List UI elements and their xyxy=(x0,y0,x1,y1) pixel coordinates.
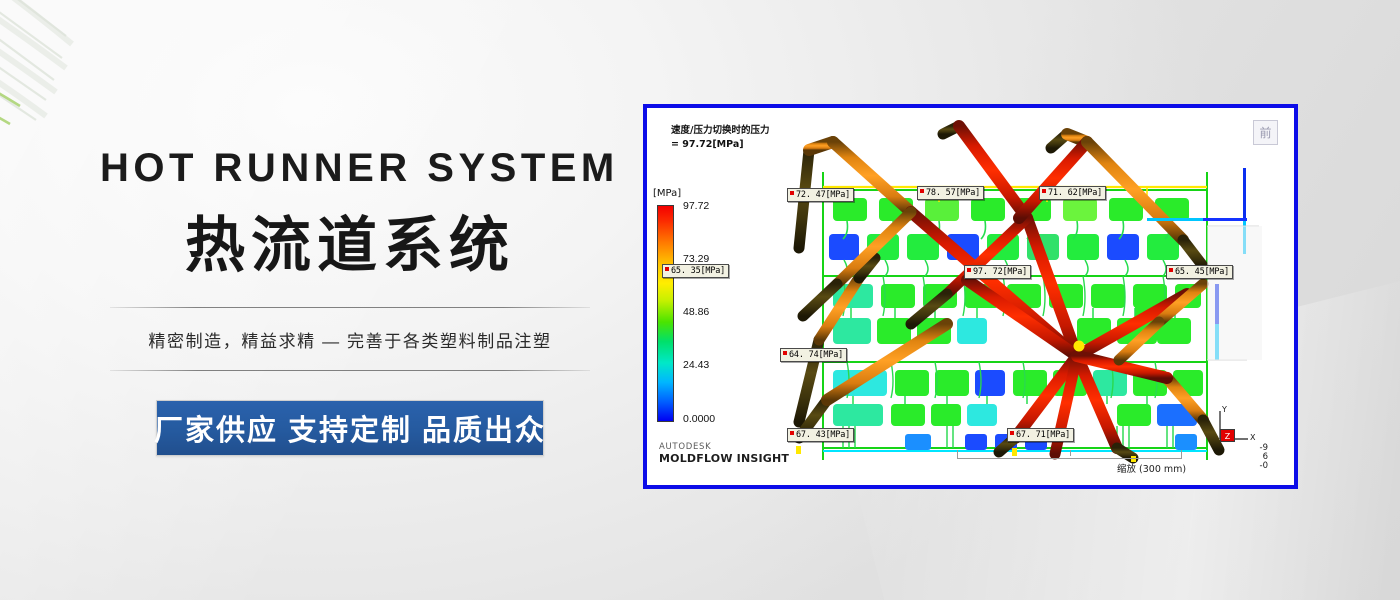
axis-triad: Y X Z -9 6 -0 xyxy=(1214,405,1268,463)
pressure-callout: 78. 57[MPa] xyxy=(917,186,984,200)
moldflow-simulation-image: 速度/压力切换时的压力 = 97.72[MPa] [MPa] 97.72 73.… xyxy=(643,104,1298,489)
colorbar-tick-4: 0.0000 xyxy=(683,413,715,425)
autodesk-watermark: AUTODESK MOLDFLOW INSIGHT xyxy=(659,442,789,465)
pressure-callout: 65. 45[MPa] xyxy=(1166,265,1233,279)
cta-button-label: 厂家供应 支持定制 品质出众 xyxy=(154,407,546,449)
divider-bottom xyxy=(110,370,590,371)
triad-label-x: X xyxy=(1250,433,1255,442)
colorbar-tick-2: 48.86 xyxy=(683,306,709,318)
scale-bar-label: 缩放 (300 mm) xyxy=(1117,461,1186,475)
simulation-canvas: 速度/压力切换时的压力 = 97.72[MPa] [MPa] 97.72 73.… xyxy=(647,108,1294,485)
promo-banner: HOT RUNNER SYSTEM 热流道系统 精密制造，精益求精 — 完善于各… xyxy=(0,0,1400,600)
autodesk-brand: AUTODESK xyxy=(659,442,789,452)
page-title-chinese: 热流道系统 xyxy=(100,214,600,277)
pressure-callout: 65. 35[MPa] xyxy=(662,264,729,278)
banner-subtitle: 精密制造，精益求精 — 完善于各类塑料制品注塑 xyxy=(100,308,600,370)
pressure-callout: 67. 71[MPa] xyxy=(1007,428,1074,442)
triad-value-2: -0 xyxy=(1260,461,1268,471)
colorbar-tick-0: 97.72 xyxy=(683,200,709,212)
banner-text-column: HOT RUNNER SYSTEM 热流道系统 精密制造，精益求精 — 完善于各… xyxy=(100,148,600,456)
colorbar-unit-label: [MPa] xyxy=(653,188,681,199)
pressure-callout: 64. 74[MPa] xyxy=(780,348,847,362)
moldflow-product-name: MOLDFLOW INSIGHT xyxy=(659,452,789,465)
pressure-callout: 72. 47[MPa] xyxy=(787,188,854,202)
pressure-callout: 67. 43[MPa] xyxy=(787,428,854,442)
front-view-badge[interactable]: 前 xyxy=(1253,120,1278,145)
plot-title: 速度/压力切换时的压力 = 97.72[MPa] xyxy=(671,124,769,153)
colorbar-tick-3: 24.43 xyxy=(683,359,709,371)
page-title-english: HOT RUNNER SYSTEM xyxy=(100,148,600,188)
scale-bar xyxy=(957,450,1182,459)
pressure-callout: 71. 62[MPa] xyxy=(1039,186,1106,200)
triad-label-z: Z xyxy=(1220,429,1235,442)
colorbar-gradient xyxy=(657,205,674,422)
scale-bar-midtick xyxy=(1070,450,1071,456)
pressure-callout: 97. 72[MPa] xyxy=(964,265,1031,279)
triad-label-y: Y xyxy=(1222,405,1227,414)
cta-button[interactable]: 厂家供应 支持定制 品质出众 xyxy=(156,400,544,456)
simulation-render xyxy=(647,108,1294,485)
